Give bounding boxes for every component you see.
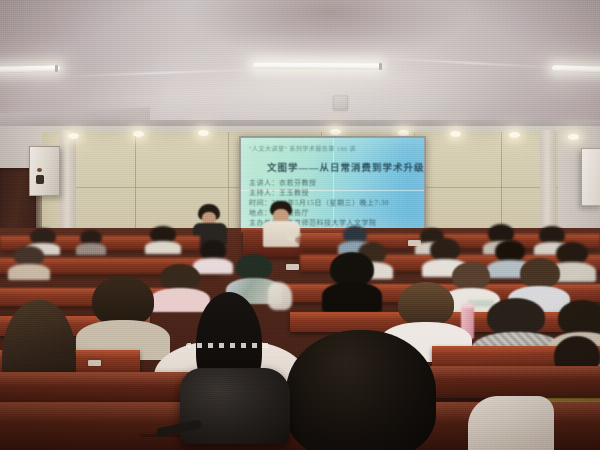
- audience-member: [150, 226, 176, 252]
- head: [558, 300, 600, 336]
- head: [14, 246, 44, 266]
- foreground-bench-left[interactable]: [0, 372, 190, 406]
- wall-speaker-left: [29, 146, 60, 196]
- seat-number-tag: [286, 264, 299, 270]
- slide-line-host: 主持人：王玉教授: [249, 188, 309, 198]
- slide-line-speaker: 主讲人：衣若芬教授: [249, 178, 317, 188]
- speaker-cone-icon: [36, 175, 44, 184]
- tube-cap: [379, 63, 382, 70]
- audience-member: [200, 240, 226, 270]
- slide-title: 文图学——从日常消费到学术升级: [267, 160, 424, 174]
- downlight-icon: [133, 131, 144, 137]
- lecture-hall-photo: "人文大讲堂" 系列学术报告第 190 讲 文图学——从日常消费到学术升级 主讲…: [0, 0, 600, 450]
- audience-member: [468, 396, 554, 450]
- shoulders: [8, 264, 50, 280]
- speaker-led-icon: [37, 168, 42, 172]
- wall-sensor-icon: [333, 95, 348, 110]
- downlight-icon: [509, 132, 520, 138]
- head: [487, 298, 545, 336]
- downlight-icon: [568, 134, 579, 140]
- shoulders: [145, 241, 181, 254]
- audience-member: [80, 230, 102, 252]
- downlight-icon: [198, 130, 209, 136]
- head: [520, 258, 560, 288]
- foreground-bench-right[interactable]: [430, 366, 600, 398]
- slide-header: "人文大讲堂" 系列学术报告第 190 讲: [249, 144, 356, 153]
- head: [236, 254, 272, 280]
- head: [430, 238, 460, 261]
- wall-speaker-right: [581, 148, 600, 206]
- head: [200, 240, 226, 260]
- audience-member: [556, 242, 588, 276]
- head: [398, 282, 454, 326]
- backpack[interactable]: [180, 368, 290, 444]
- downlight-icon: [450, 131, 461, 137]
- head: [330, 252, 374, 286]
- shoulders: [322, 282, 382, 312]
- audience-member: [14, 246, 44, 276]
- lace-trim: [186, 343, 272, 348]
- fluorescent-tube-center-icon: [253, 63, 381, 70]
- shoulders: [76, 243, 106, 255]
- thermos-cap-icon: [461, 303, 474, 308]
- audience-member: [330, 252, 374, 308]
- head: [286, 330, 436, 450]
- head: [160, 264, 200, 290]
- tube-cap: [55, 65, 58, 72]
- audience-member: [286, 330, 436, 450]
- downlight-icon: [330, 129, 341, 135]
- head: [556, 242, 588, 264]
- downlight-icon: [68, 133, 79, 139]
- head: [452, 262, 490, 290]
- presenter: [262, 201, 302, 245]
